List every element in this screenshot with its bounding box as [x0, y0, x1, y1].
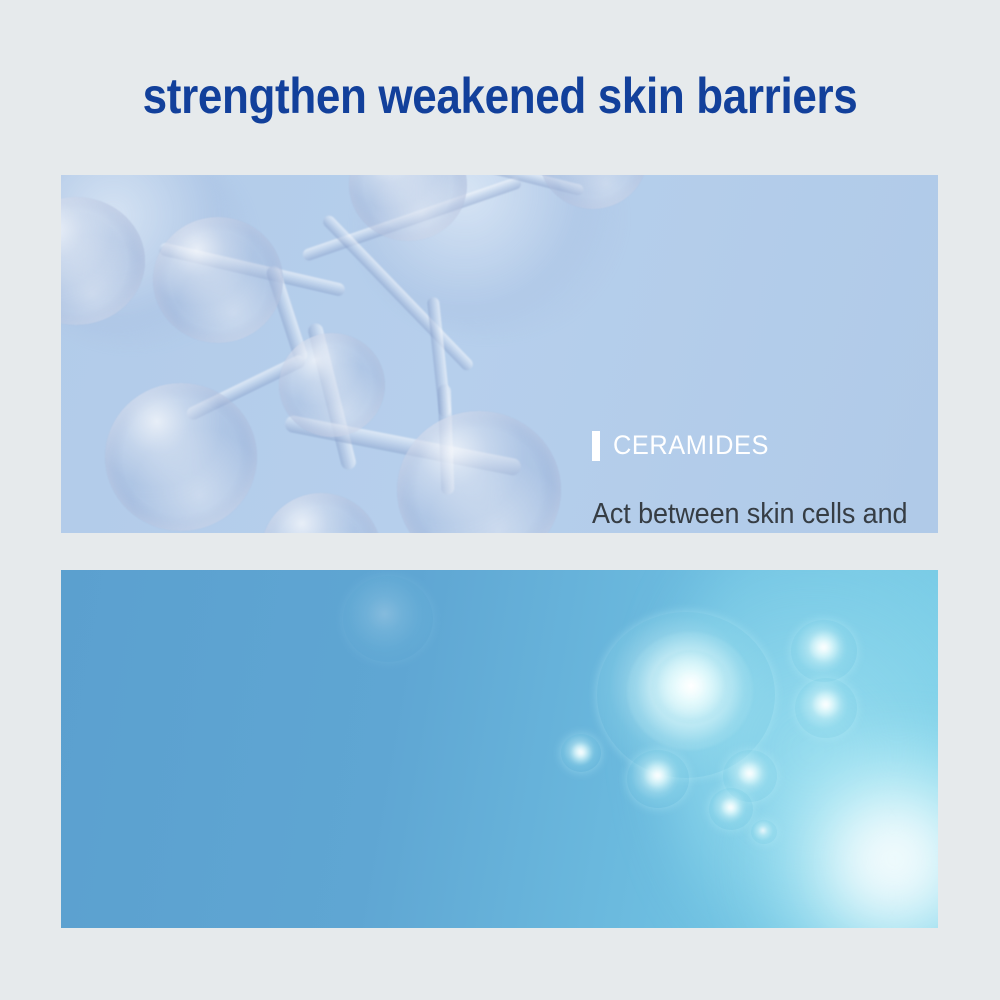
- peptides-panel: PEPTIDES Vitalize damaged skin and rapid…: [61, 570, 938, 928]
- ceramides-heading-row: CERAMIDES: [592, 430, 938, 461]
- ceramides-lede-text: Act between skin cells and: [592, 495, 938, 533]
- ceramides-heading-label: CERAMIDES: [613, 430, 769, 461]
- ceramides-panel: CERAMIDES Act between skin cells and rei…: [61, 175, 938, 533]
- ceramides-content: CERAMIDES Act between skin cells and rei…: [592, 430, 938, 533]
- accent-bar-icon: [592, 431, 600, 461]
- page-title: strengthen weakened skin barriers: [60, 68, 940, 126]
- skin-cells-image: [61, 570, 938, 928]
